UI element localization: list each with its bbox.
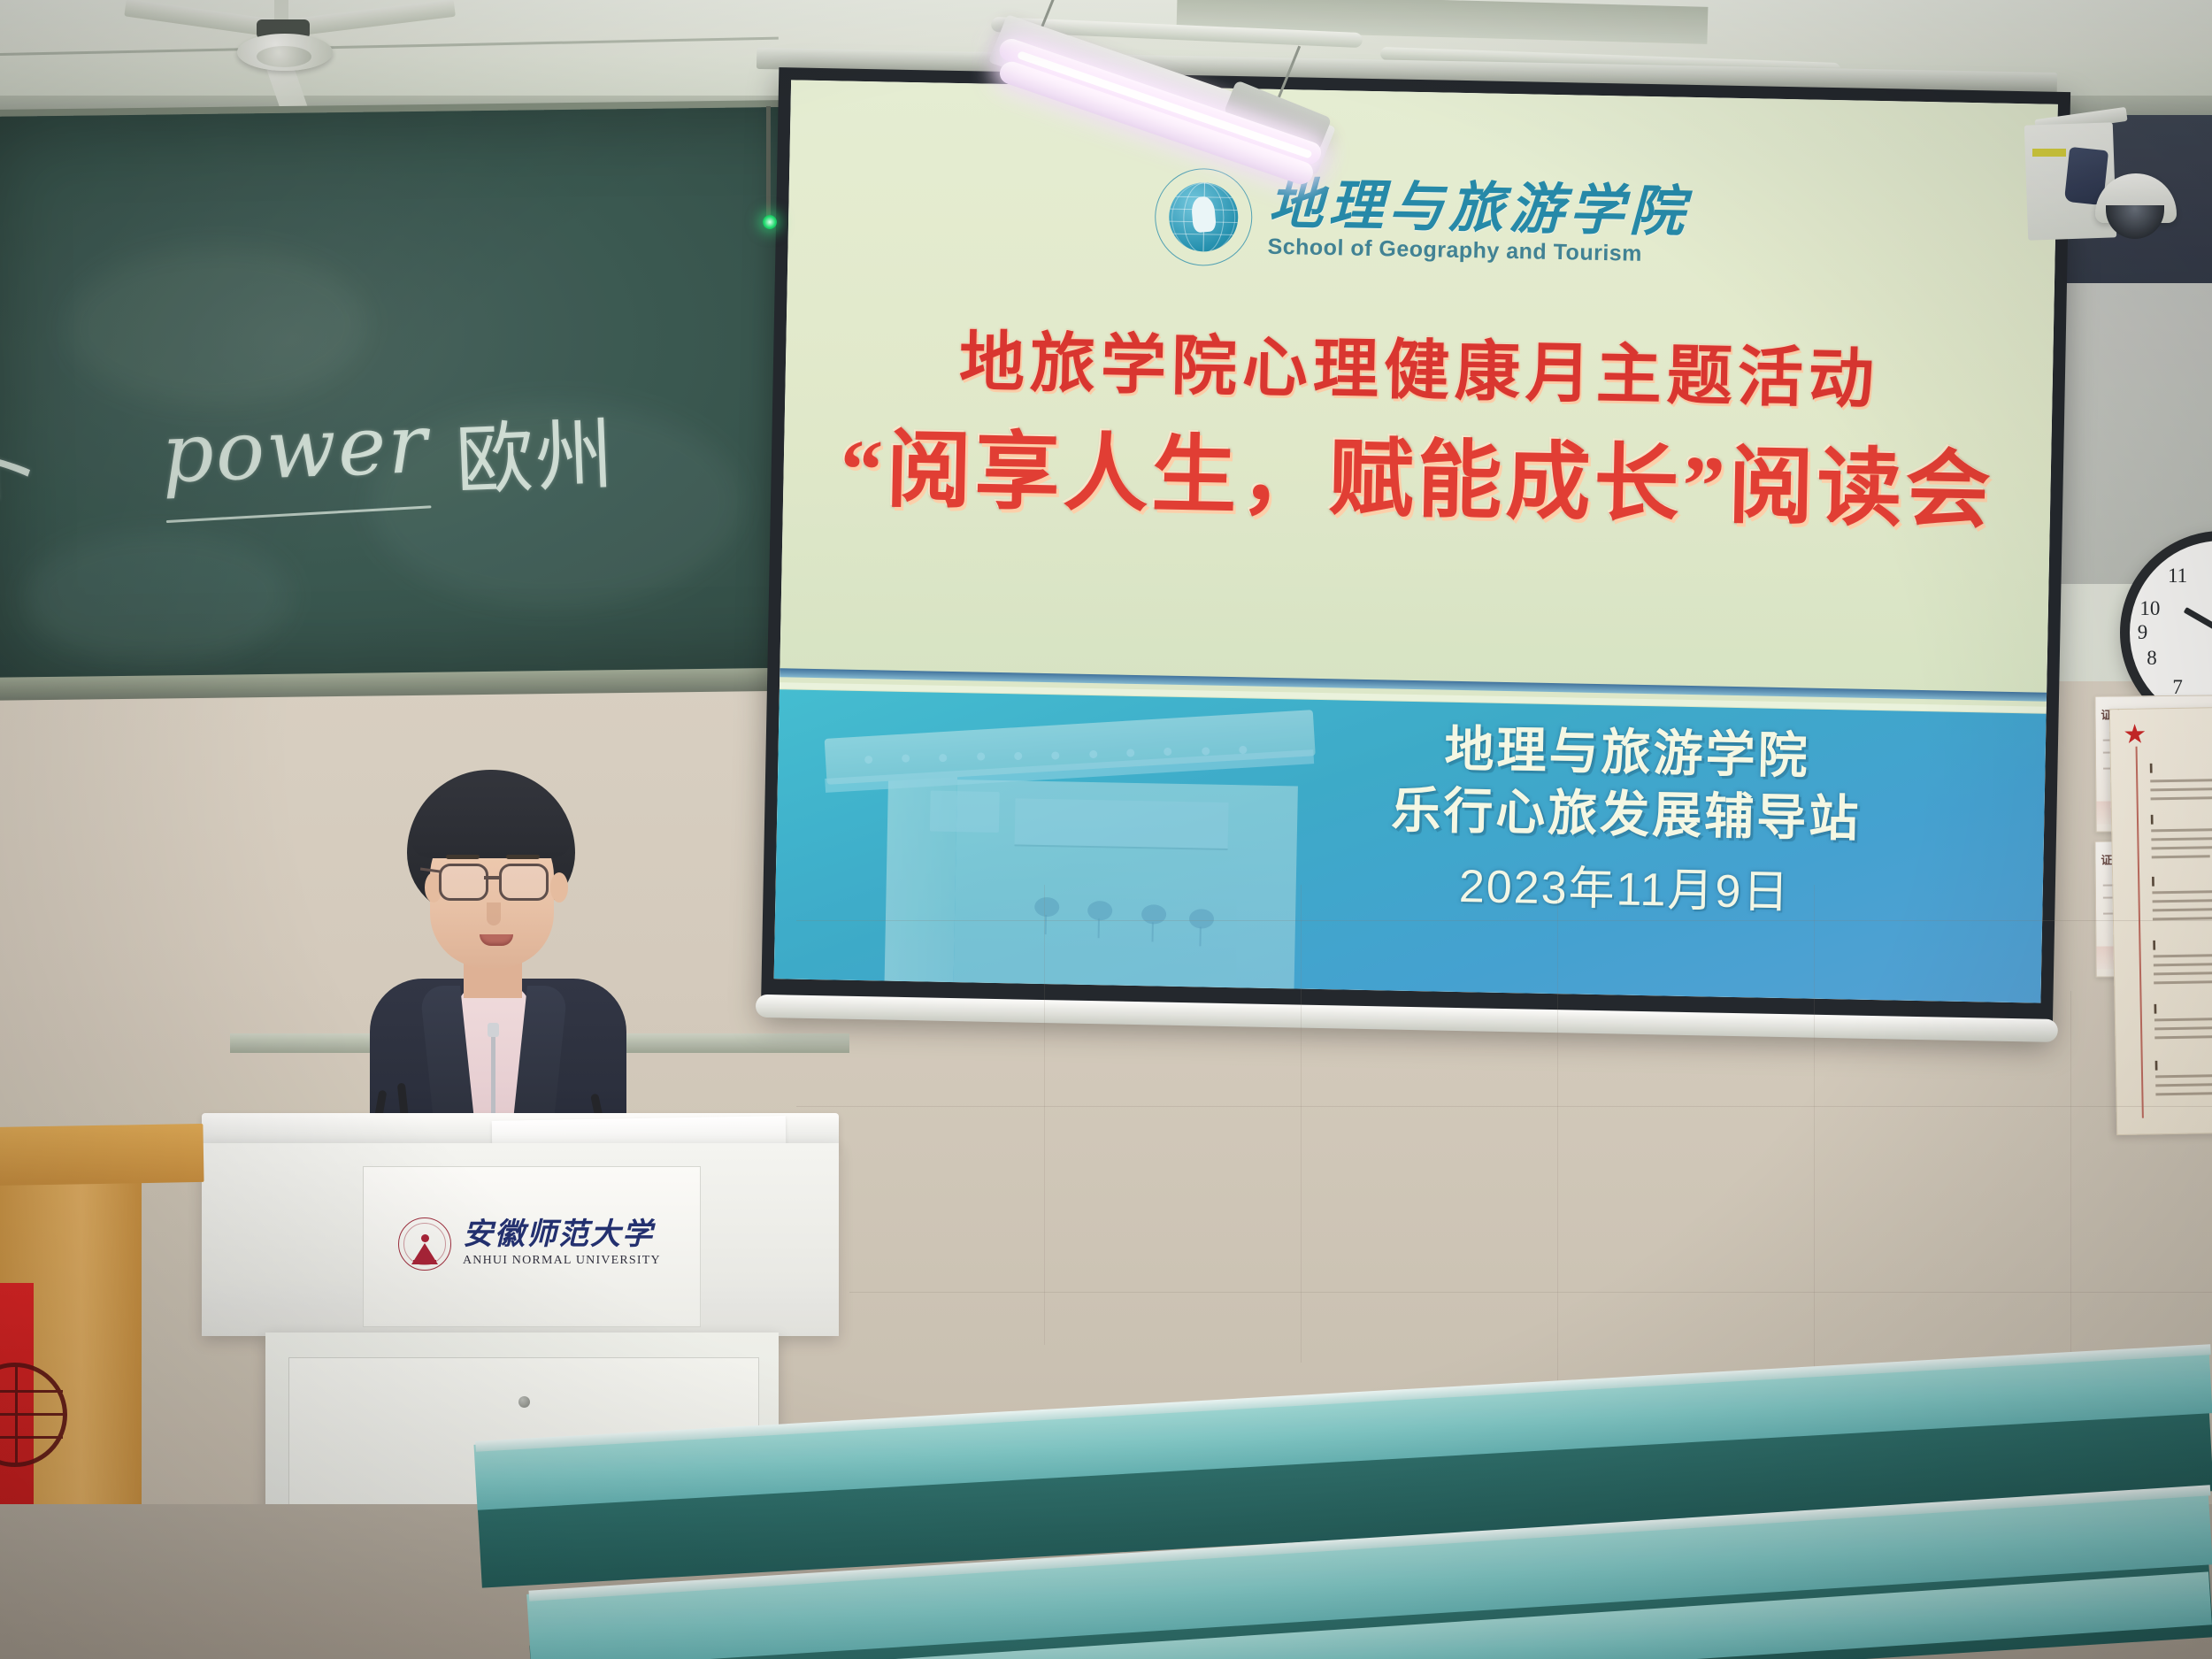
presenter-fringe — [411, 795, 572, 858]
slide-footer-date: 2023年11月9日 — [1232, 845, 2018, 926]
presentation-slide: 地理与旅游学院 School of Geography and Tourism … — [774, 80, 2058, 1002]
slide-footer-band: 地理与旅游学院 乐行心旅发展辅导站 2023年11月9日 — [774, 689, 2047, 1003]
clock-numeral: 9 — [2138, 621, 2148, 644]
screen-surface: 地理与旅游学院 School of Geography and Tourism … — [774, 80, 2058, 1002]
slide-title-block: 地旅学院心理健康月主题活动 “阅享人生，赋能成长”阅读会 — [783, 323, 2054, 544]
clock-hour-hand — [2184, 607, 2212, 635]
zipper-pull — [488, 1023, 499, 1037]
blackboard: ト power 欧州 — [0, 106, 855, 683]
classroom-photo-scene: ト power 欧州 — [0, 0, 2212, 1659]
glasses-bridge — [484, 876, 500, 879]
wooden-cabinet-top — [0, 1124, 204, 1186]
glasses-lens — [499, 864, 549, 901]
fan-blade — [300, 0, 456, 35]
gate-plaque — [930, 791, 1000, 833]
gate-signboard — [1015, 798, 1229, 850]
screen-pull-cord[interactable] — [766, 106, 771, 219]
university-name-cn: 安徽师范大学 — [463, 1220, 661, 1250]
wall-poster: ★ ▍ ▍ ▍ ▍ ▍ ▍ — [2109, 707, 2212, 1135]
clock-numeral: 8 — [2147, 647, 2157, 670]
green-led-icon — [763, 215, 777, 229]
chalk-chinese: 欧州 — [453, 392, 617, 511]
projection-screen[interactable]: 地理与旅游学院 School of Geography and Tourism … — [761, 67, 2070, 1039]
nose — [487, 902, 501, 926]
university-name-en: ANHUI NORMAL UNIVERSITY — [463, 1254, 661, 1268]
eyebrow — [506, 855, 540, 859]
fan-blade — [124, 0, 275, 37]
red-star-icon: ★ — [2123, 721, 2147, 748]
chalk-word: power — [160, 396, 430, 501]
eyebrow — [446, 855, 480, 859]
cabinet-lock-icon[interactable] — [518, 1396, 530, 1408]
glasses-lens — [439, 864, 488, 901]
ceiling-fan-icon — [133, 0, 434, 110]
fan-hub-inner — [257, 46, 311, 67]
clock-numeral: 11 — [2168, 565, 2187, 588]
clock-numeral: 10 — [2139, 597, 2160, 620]
chalk-fragment: ト — [0, 407, 45, 520]
slide-footer-text: 地理与旅游学院 乐行心旅发展辅导站 2023年11月9日 — [1232, 716, 2021, 926]
ear — [550, 872, 568, 902]
camera-label — [2032, 149, 2066, 157]
university-seal-icon — [398, 1217, 451, 1271]
university-logo: 安徽师范大学 ANHUI NORMAL UNIVERSITY — [398, 1210, 672, 1278]
